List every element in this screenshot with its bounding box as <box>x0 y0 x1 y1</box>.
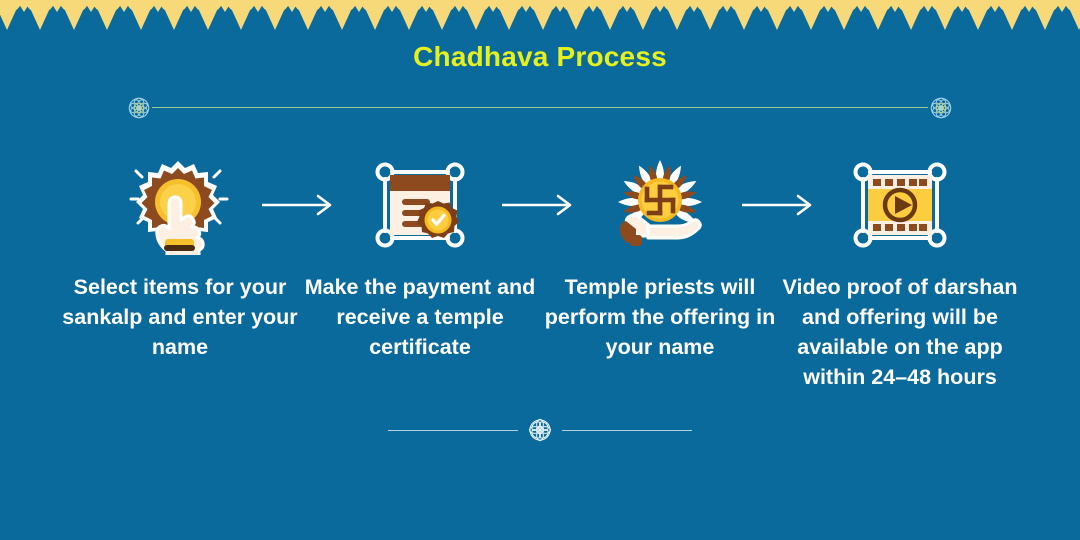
ogee-motif <box>57 0 91 34</box>
hand-holding-lotus-swastika-icon <box>608 155 712 255</box>
top-divider <box>118 93 962 123</box>
process-steps-captions: Select items for your sankalp and enter … <box>0 272 1080 392</box>
divider-line-right <box>562 430 692 431</box>
chadhava-process-infographic: Chadhava Process <box>0 0 1080 540</box>
step-3-caption: Temple priests will perform the offering… <box>540 272 780 362</box>
ogee-motif <box>1062 0 1080 34</box>
ogee-motif <box>861 0 895 34</box>
ogee-motif <box>1029 0 1063 34</box>
page-title: Chadhava Process <box>0 41 1080 73</box>
flower-rosette-icon <box>524 414 556 446</box>
ogee-motif <box>292 0 326 34</box>
ogee-motif <box>627 0 661 34</box>
step-4-caption: Video proof of darshan and offering will… <box>780 272 1020 392</box>
ogee-motif <box>962 0 996 34</box>
ogee-motif <box>761 0 795 34</box>
process-steps-icons <box>0 152 1080 257</box>
ogee-motif <box>493 0 527 34</box>
ogee-motif <box>694 0 728 34</box>
ogee-motif <box>895 0 929 34</box>
ogee-motif <box>191 0 225 34</box>
mandala-rosette-icon <box>124 93 154 123</box>
ogee-motif <box>124 0 158 34</box>
ogee-motif <box>24 0 58 34</box>
ogee-motif <box>459 0 493 34</box>
certificate-seal-icon <box>368 155 472 255</box>
video-film-play-icon <box>848 155 952 255</box>
step-4-icon-wrap <box>841 155 959 255</box>
step-1-caption: Select items for your sankalp and enter … <box>60 272 300 362</box>
ogee-motif <box>325 0 359 34</box>
step-2-caption: Make the payment and receive a temple ce… <box>300 272 540 362</box>
top-decorative-border <box>0 0 1080 34</box>
arrow-right-icon <box>239 190 361 220</box>
arrow-right-icon <box>479 190 601 220</box>
ogee-motif <box>258 0 292 34</box>
ogee-motif <box>828 0 862 34</box>
hand-tap-sun-icon <box>128 155 232 255</box>
bottom-divider <box>0 413 1080 447</box>
ogee-motif <box>794 0 828 34</box>
ogee-motif <box>526 0 560 34</box>
ogee-motif <box>560 0 594 34</box>
divider-line-left <box>388 430 518 431</box>
ogee-motif <box>158 0 192 34</box>
ogee-motif <box>928 0 962 34</box>
ogee-motif <box>995 0 1029 34</box>
ogee-motif <box>426 0 460 34</box>
arrow-right-icon <box>719 190 841 220</box>
step-3-icon-wrap <box>601 155 719 255</box>
step-2-icon-wrap <box>361 155 479 255</box>
ogee-motif <box>660 0 694 34</box>
step-1-icon-wrap <box>121 155 239 255</box>
ogee-motif <box>225 0 259 34</box>
ogee-motif <box>727 0 761 34</box>
ogee-motif <box>593 0 627 34</box>
ogee-motif <box>0 0 24 34</box>
ogee-motif <box>359 0 393 34</box>
divider-line <box>152 107 928 108</box>
mandala-rosette-icon <box>926 93 956 123</box>
ogee-motif <box>91 0 125 34</box>
ogee-motif <box>392 0 426 34</box>
